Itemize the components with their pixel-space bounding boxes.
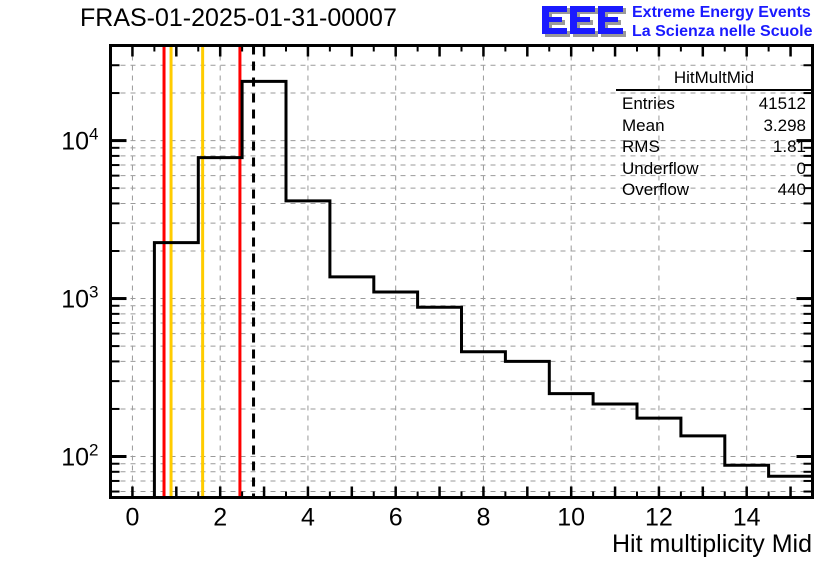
- stats-label: RMS: [622, 136, 660, 158]
- stats-label: Underflow: [622, 158, 699, 180]
- x-tick-label: 0: [125, 504, 139, 532]
- x-tick-label: 8: [476, 504, 490, 532]
- plot-canvas: FRAS-01-2025-01-31-00007: [0, 0, 836, 572]
- stats-divider: [616, 89, 812, 91]
- stats-row: Overflow440: [616, 179, 812, 201]
- x-axis-title: Hit multiplicity Mid: [612, 530, 812, 559]
- stats-label: Entries: [622, 93, 675, 115]
- stats-value: 0: [797, 158, 806, 180]
- stats-value: 440: [778, 179, 806, 201]
- x-tick-label: 4: [301, 504, 315, 532]
- stats-value: 1.81: [773, 136, 806, 158]
- x-tick-label: 6: [389, 504, 403, 532]
- stats-row: Underflow0: [616, 158, 812, 180]
- stats-value: 3.298: [763, 115, 806, 137]
- stats-value: 41512: [759, 93, 806, 115]
- y-tick-label: 104: [61, 125, 98, 156]
- stats-row: Entries41512: [616, 93, 812, 115]
- stats-row: Mean3.298: [616, 115, 812, 137]
- x-tick-label: 10: [557, 504, 585, 532]
- stats-title: HitMultMid: [616, 68, 812, 89]
- stats-row: RMS1.81: [616, 136, 812, 158]
- y-tick-label: 102: [61, 440, 98, 471]
- stats-label: Overflow: [622, 179, 689, 201]
- y-tick-label: 103: [61, 283, 98, 314]
- stats-label: Mean: [622, 115, 665, 137]
- stats-box: HitMultMid Entries41512Mean3.298RMS1.81U…: [616, 68, 812, 201]
- x-tick-label: 2: [213, 504, 227, 532]
- x-tick-label: 12: [645, 504, 673, 532]
- x-tick-label: 14: [733, 504, 761, 532]
